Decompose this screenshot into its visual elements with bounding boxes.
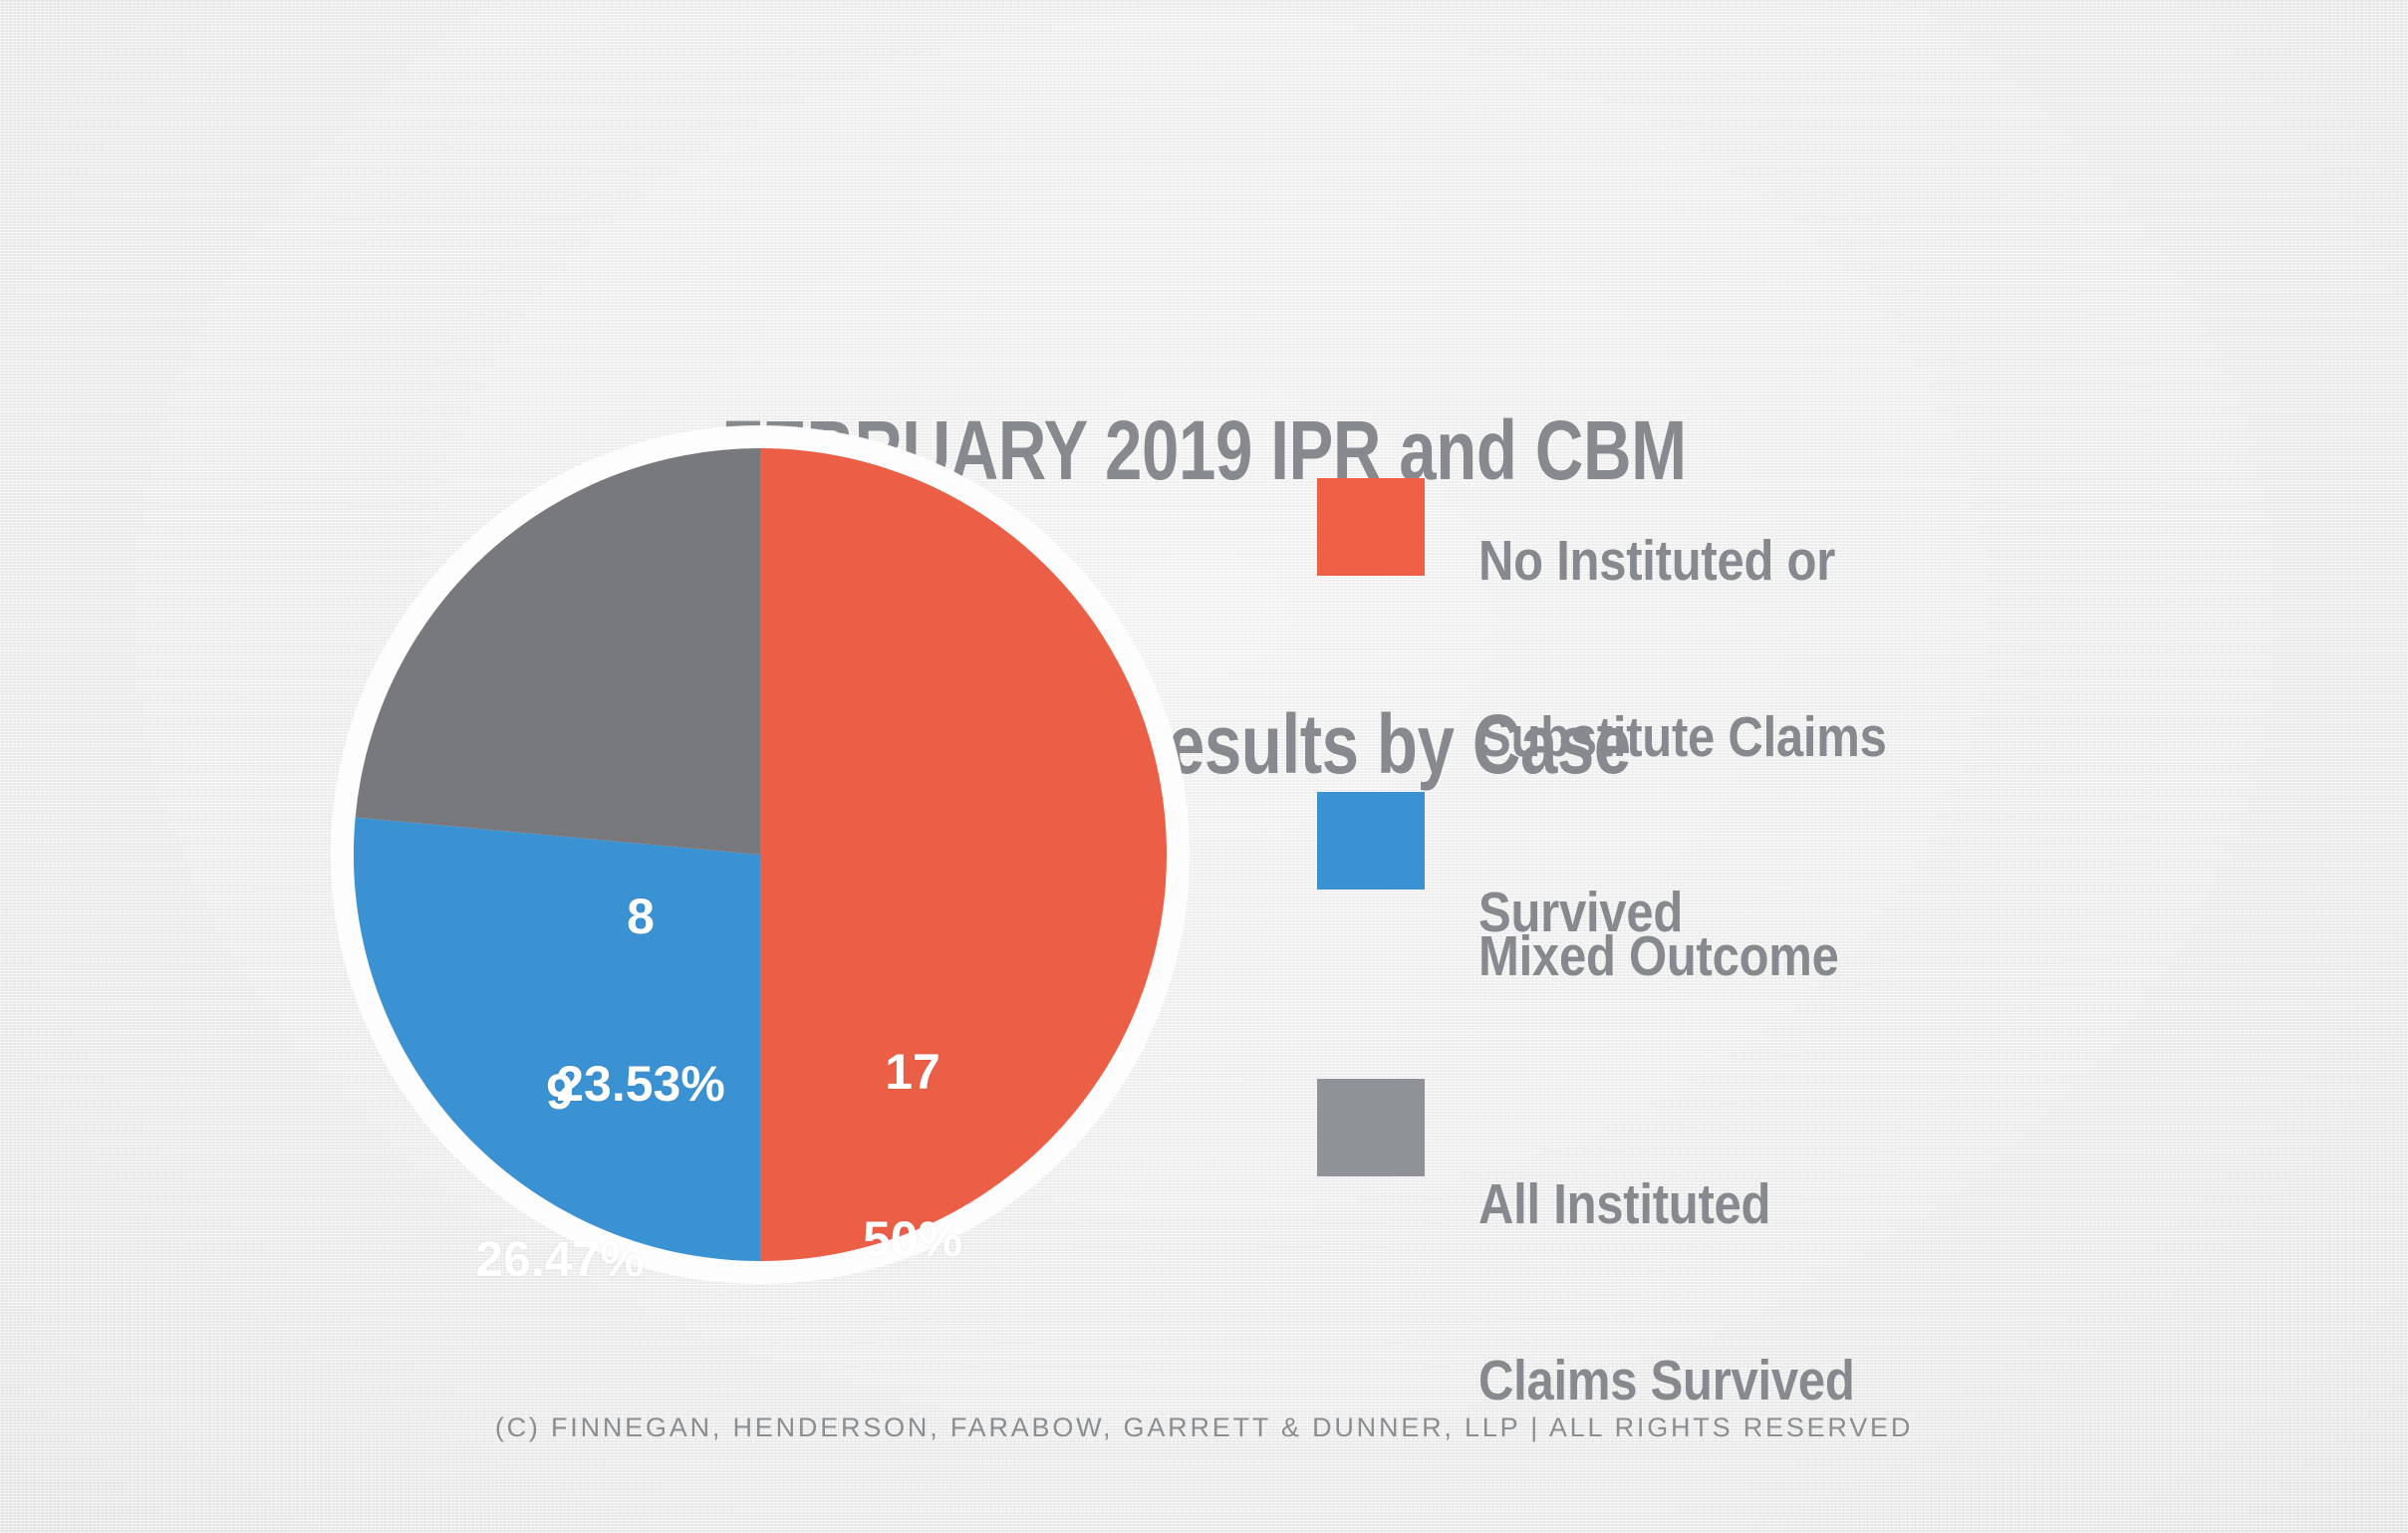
pie-chart: 17 50% 9 26.47% 8 23.53% xyxy=(332,426,1189,1283)
legend-label-line: Claims Survived xyxy=(1478,1352,2335,1410)
legend-label-line: Mixed Outcome xyxy=(1478,927,2335,986)
legend-label-all-instituted-claims-survived: All Instituted Claims Survived xyxy=(1478,1059,2335,1527)
pie-label-percent: 50% xyxy=(808,1211,1017,1267)
pie-label-no-instituted-or-substitute-claims-survived: 17 50% xyxy=(808,932,1017,1379)
legend-label-line: Substitute Claims xyxy=(1478,708,2335,767)
legend-swatch-gray xyxy=(1317,1079,1425,1176)
pie-label-all-instituted-claims-survived: 8 23.53% xyxy=(531,777,750,1223)
pie-label-value: 17 xyxy=(808,1044,1017,1100)
copyright-footer: (C) FINNEGAN, HENDERSON, FARABOW, GARRET… xyxy=(0,1412,2408,1443)
pie-label-value: 8 xyxy=(531,889,750,944)
pie-label-percent: 23.53% xyxy=(531,1056,750,1112)
legend-label-line: No Instituted or xyxy=(1478,532,2335,591)
legend-swatch-red xyxy=(1317,478,1425,576)
slide-canvas: FEBRUARY 2019 IPR and CBM Combined Resul… xyxy=(0,0,2408,1533)
legend-label-line: All Instituted xyxy=(1478,1175,2335,1234)
legend-swatch-blue xyxy=(1317,792,1425,890)
pie-label-percent: 26.47% xyxy=(445,1231,674,1287)
